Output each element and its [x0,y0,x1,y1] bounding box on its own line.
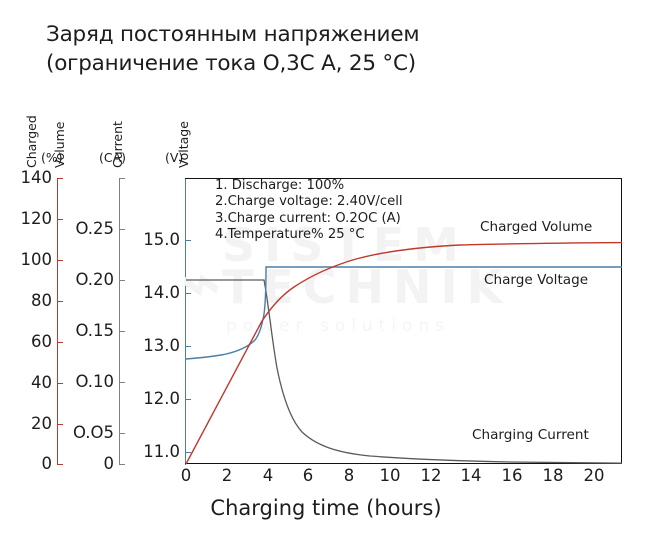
percent-ticklabel: 60 [0,332,52,351]
x-axis-title: Charging time (hours) [0,496,652,520]
page-title: Заряд постоянным напряжением (ограничени… [46,20,606,78]
note-line-3: 3.Charge current: O.2OC (A) [215,211,403,227]
current-ticklabel: O.15 [54,321,114,340]
x-ticklabel: 18 [533,466,573,485]
current-tick [119,382,125,383]
percent-ticklabel: 140 [0,168,52,187]
axis-unit-voltage: (V) [165,150,183,165]
current-tick [119,178,125,179]
x-ticklabel: 20 [574,466,614,485]
percent-tick [57,301,63,302]
current-tick [119,464,125,465]
percent-ticklabel: 40 [0,373,52,392]
series-label-charge-voltage: Charge Voltage [484,272,588,288]
voltage-ticklabel: 13.0 [120,336,180,355]
x-ticklabel: 0 [166,466,206,485]
x-ticklabel: 6 [288,466,328,485]
note-line-4: 4.Temperature% 25 °C [215,227,403,243]
percent-tick [57,342,63,343]
current-tick [119,331,125,332]
x-ticklabel: 4 [248,466,288,485]
percent-ticklabel: 100 [0,250,52,269]
voltage-ticklabel: 11.0 [120,442,180,461]
current-ticklabel: O.10 [54,372,114,391]
current-tick [119,280,125,281]
percent-ticklabel: 20 [0,414,52,433]
percent-tick [57,260,63,261]
note-line-2: 2.Charge voltage: 2.40V/cell [215,194,403,210]
voltage-ticklabel: 15.0 [120,230,180,249]
x-ticklabel: 8 [329,466,369,485]
percent-ticklabel: 0 [0,454,52,473]
axis-unit-percent: (%) [41,150,63,165]
x-ticklabel: 12 [411,466,451,485]
current-ticklabel: O.O5 [54,423,114,442]
x-ticklabel: 10 [370,466,410,485]
axis-unit-current: (CA) [99,150,126,165]
percent-ticklabel: 80 [0,291,52,310]
current-ticklabel: 0 [54,454,114,473]
current-ticklabel: O.25 [54,219,114,238]
x-ticklabel: 2 [207,466,247,485]
current-ticklabel: O.20 [54,270,114,289]
voltage-ticklabel: 12.0 [120,389,180,408]
note-line-1: 1. Discharge: 100% [215,178,403,194]
series-label-charged-volume: Charged Volume [480,219,592,235]
current-tick [119,433,125,434]
current-axis-rail [119,178,120,465]
x-ticklabel: 16 [492,466,532,485]
notes-block: 1. Discharge: 100% 2.Charge voltage: 2.4… [215,178,403,244]
series-label-charging-current: Charging Current [472,427,589,443]
voltage-ticklabel: 14.0 [120,283,180,302]
percent-tick [57,178,63,179]
axis-name-charged: Charged [24,115,39,168]
percent-ticklabel: 120 [0,209,52,228]
x-ticklabel: 14 [451,466,491,485]
